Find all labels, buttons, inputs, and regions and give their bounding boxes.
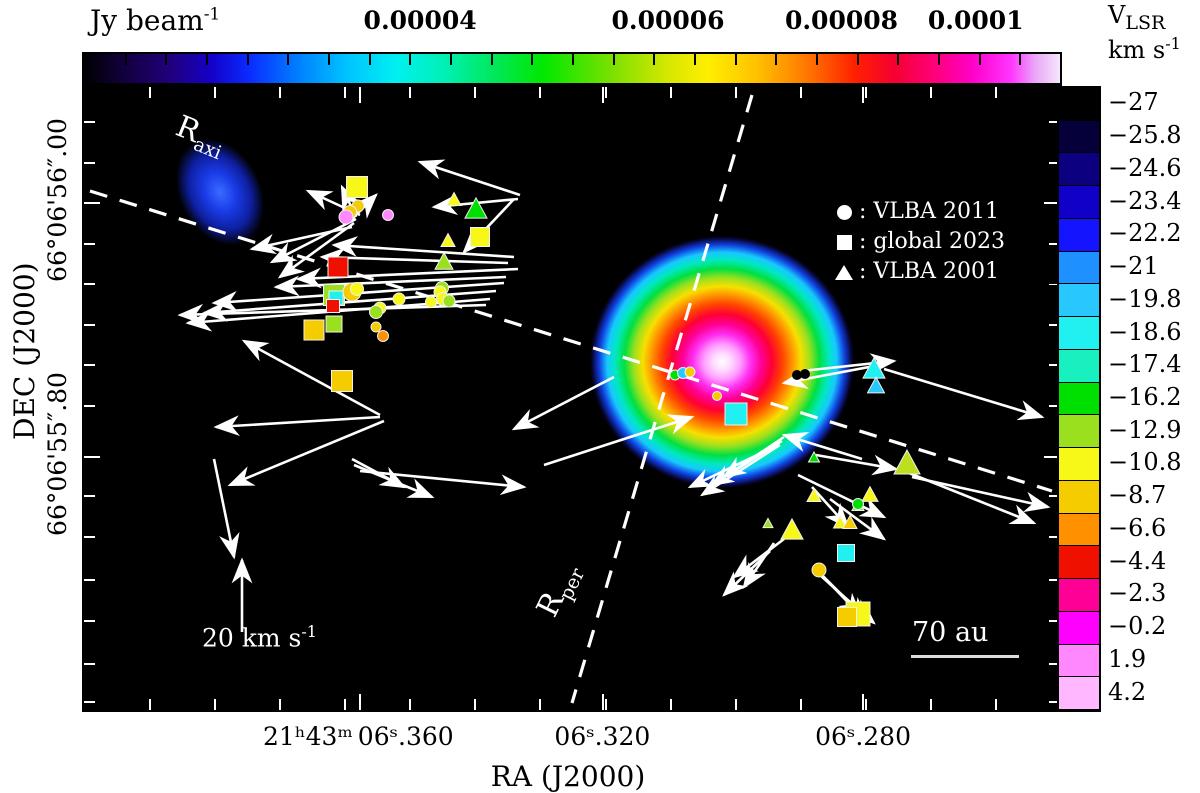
velocity-colorbar-title: VLSR km s-1 xyxy=(1108,2,1181,64)
axis-tick xyxy=(865,699,867,710)
axis-tick xyxy=(84,536,95,538)
maser-marker-vlba2001 xyxy=(763,518,773,527)
maser-marker-global2023 xyxy=(326,316,342,332)
axis-tick xyxy=(930,87,932,98)
legend-label: : VLBA 2001 xyxy=(859,257,999,287)
axis-tick xyxy=(800,87,802,98)
dec-tick-label: 66°06'55″.80 xyxy=(43,372,72,536)
axis-tick xyxy=(214,87,216,98)
axis-tick xyxy=(602,87,604,103)
legend-label: : VLBA 2011 xyxy=(859,197,999,227)
dec-tick-label: 66°06'56″.00 xyxy=(43,118,72,282)
velocity-color-cell xyxy=(1059,252,1099,285)
axis-tick xyxy=(149,699,151,710)
intensity-tick xyxy=(206,54,208,65)
velocity-color-cell xyxy=(1059,546,1099,579)
maser-marker-vlba2011 xyxy=(443,295,455,307)
velocity-tick-label: −27 xyxy=(1108,88,1159,116)
velocity-tick xyxy=(1046,348,1057,350)
velocity-tick-label: 4.2 xyxy=(1108,678,1146,706)
maser-marker-global2023 xyxy=(332,371,353,392)
velocity-tick-label: −19.8 xyxy=(1108,285,1182,313)
velocity-color-cell xyxy=(1059,153,1099,186)
intensity-tick xyxy=(735,54,737,65)
size-scale-label: 70 au xyxy=(912,617,988,648)
intensity-tick xyxy=(531,54,533,65)
axis-tick xyxy=(279,699,281,710)
velocity-tick xyxy=(1046,610,1057,612)
velocity-color-cell xyxy=(1059,219,1099,252)
continuum-emission xyxy=(141,104,854,488)
ra-tick-label: 21ʰ43ᵐ 06ˢ.360 xyxy=(263,722,454,751)
intensity-tick xyxy=(369,54,371,65)
intensity-tick xyxy=(653,54,655,65)
axis-tick xyxy=(84,324,95,326)
velocity-tick xyxy=(1046,479,1057,481)
velocity-tick-label: −21 xyxy=(1108,252,1159,280)
intensity-tick xyxy=(450,54,452,65)
intensity-tick xyxy=(1019,54,1021,65)
intensity-tick xyxy=(572,54,574,65)
maser-marker-vlba2011 xyxy=(339,210,353,224)
axis-tick xyxy=(670,699,672,710)
intensity-tick xyxy=(775,54,777,65)
maser-marker-vlba2011 xyxy=(685,367,695,377)
velocity-color-cell xyxy=(1059,448,1099,481)
axis-tick xyxy=(84,495,95,497)
size-scale-bar xyxy=(911,655,1019,658)
ra-tick-label: 06ˢ.280 xyxy=(815,722,911,751)
maser-marker-vlba2011 xyxy=(371,322,381,332)
intensity-tick xyxy=(938,54,940,65)
axis-tick xyxy=(84,243,95,245)
velocity-tick-label: −4.4 xyxy=(1108,547,1166,575)
velocity-color-cell xyxy=(1059,677,1099,710)
velocity-color-cell xyxy=(1059,317,1099,350)
square-icon xyxy=(831,235,857,250)
velocity-tick-label: −16.2 xyxy=(1108,383,1182,411)
axis-tick xyxy=(539,699,541,710)
intensity-tick xyxy=(979,54,981,65)
axis-tick xyxy=(800,699,802,710)
axis-tick xyxy=(84,162,95,164)
maser-marker-vlba2011 xyxy=(426,297,437,308)
intensity-tick-label: 0.00008 xyxy=(785,6,898,35)
maser-marker-vlba2011 xyxy=(393,293,405,305)
axis-tick xyxy=(605,699,607,710)
triangle-icon xyxy=(831,265,857,280)
axis-tick xyxy=(474,87,476,98)
x-axis-title: RA (J2000) xyxy=(491,760,646,793)
velocity-color-cell xyxy=(1059,284,1099,317)
axis-tick xyxy=(735,699,737,710)
velocity-tick-label: 1.9 xyxy=(1108,645,1146,673)
axis-tick xyxy=(359,87,361,103)
intensity-unit-label: Jy beam-1 xyxy=(90,4,220,37)
y-axis-title: DEC (J2000) xyxy=(8,262,41,440)
velocity-tick-label: −24.6 xyxy=(1108,154,1182,182)
velocity-color-cell xyxy=(1059,383,1099,416)
maser-marker-vlba2011 xyxy=(713,392,722,401)
velocity-tick-label: −8.7 xyxy=(1108,481,1166,509)
figure-root: Jy beam-1 0.000040.000060.000080.0001 xyxy=(0,0,1200,788)
axis-tick xyxy=(149,87,151,98)
axis-tick xyxy=(539,87,541,98)
axis-tick xyxy=(862,87,864,103)
velocity-color-cell xyxy=(1059,121,1099,154)
axis-tick xyxy=(344,699,346,710)
velocity-tick-label: −10.8 xyxy=(1108,448,1182,476)
maser-marker-vlba2001 xyxy=(447,193,461,206)
intensity-tick xyxy=(409,54,411,65)
velocity-color-cell xyxy=(1059,514,1099,547)
intensity-tick xyxy=(165,54,167,65)
legend-item-global2023: : global 2023 xyxy=(831,227,1005,257)
maser-marker-vlba2001 xyxy=(894,450,920,474)
axis-tick xyxy=(605,87,607,98)
velocity-color-cell xyxy=(1059,186,1099,219)
sky-map-panel[interactable]: Raxi Rper 20 km s-1 70 au : VLBA 2011 : … xyxy=(82,85,1062,712)
ra-tick-label: 06ˢ.320 xyxy=(554,722,650,751)
maser-marker-global2023 xyxy=(838,608,857,627)
axis-tick xyxy=(359,694,361,710)
axis-tick xyxy=(865,87,867,98)
maser-marker-vlba2011 xyxy=(378,331,389,342)
maser-marker-vlba2001 xyxy=(781,519,803,539)
velocity-tick xyxy=(1046,151,1057,153)
axis-tick xyxy=(995,87,997,98)
axis-tick xyxy=(84,121,95,123)
velocity-tick-label: −12.9 xyxy=(1108,416,1182,444)
intensity-tick xyxy=(897,54,899,65)
axis-tick xyxy=(84,579,95,581)
maser-marker-global2023 xyxy=(328,257,348,277)
intensity-tick xyxy=(613,54,615,65)
maser-marker-vlba2001 xyxy=(862,487,878,502)
intensity-tick xyxy=(857,54,859,65)
axis-tick xyxy=(279,87,281,98)
velocity-tick xyxy=(1046,282,1057,284)
maser-marker-global2023 xyxy=(347,177,368,198)
axis-tick xyxy=(84,202,100,204)
maser-marker-vlba2001 xyxy=(441,234,455,247)
velocity-scale-label: 20 km s-1 xyxy=(202,622,317,652)
axis-tick xyxy=(409,87,411,98)
intensity-tick xyxy=(125,54,127,65)
intensity-colorbar xyxy=(82,52,1062,85)
axis-tick xyxy=(214,699,216,710)
intensity-tick xyxy=(694,54,696,65)
velocity-colorbar[interactable] xyxy=(1057,86,1101,712)
legend-label: : global 2023 xyxy=(859,227,1005,257)
intensity-tick xyxy=(328,54,330,65)
axis-tick xyxy=(602,694,604,710)
axis-tick xyxy=(862,694,864,710)
legend-item-vlba2001: : VLBA 2001 xyxy=(831,257,1005,287)
axis-tick xyxy=(474,699,476,710)
velocity-tick-label: −0.2 xyxy=(1108,612,1166,640)
velocity-tick-label: −25.8 xyxy=(1108,121,1182,149)
velocity-tick xyxy=(1046,413,1057,415)
intensity-tick xyxy=(287,54,289,65)
velocity-tick xyxy=(1046,544,1057,546)
maser-marker-global2023 xyxy=(471,228,490,247)
maser-marker-global2023 xyxy=(304,320,324,340)
maser-marker-global2023 xyxy=(725,403,747,425)
intensity-tick xyxy=(247,54,249,65)
velocity-color-cell xyxy=(1059,350,1099,383)
maser-marker-vlba2011 xyxy=(800,369,810,379)
velocity-tick xyxy=(1046,217,1057,219)
axis-tick xyxy=(84,701,95,703)
maser-marker-vlba2011 xyxy=(351,283,364,296)
axis-tick xyxy=(84,620,95,622)
velocity-color-cell xyxy=(1059,645,1099,678)
velocity-color-cell xyxy=(1059,88,1099,121)
velocity-color-cell xyxy=(1059,415,1099,448)
axis-tick xyxy=(735,87,737,98)
velocity-tick xyxy=(1046,675,1057,677)
velocity-color-cell xyxy=(1059,481,1099,514)
velocity-tick-label: −6.6 xyxy=(1108,514,1166,542)
velocity-tick-label: −2.3 xyxy=(1108,579,1166,607)
axis-tick xyxy=(995,699,997,710)
axis-tick xyxy=(84,663,95,665)
intensity-tick xyxy=(491,54,493,65)
maser-marker-vlba2001 xyxy=(465,198,487,218)
maser-marker-vlba2001 xyxy=(868,377,885,393)
maser-marker-vlba2011 xyxy=(370,306,383,319)
maser-marker-vlba2011 xyxy=(853,499,864,510)
intensity-tick-label: 0.00004 xyxy=(364,6,477,35)
circle-icon xyxy=(831,205,857,220)
velocity-tick-label: −23.4 xyxy=(1108,187,1182,215)
axis-tick xyxy=(344,87,346,98)
legend-item-vlba2011: : VLBA 2011 xyxy=(831,197,1005,227)
axis-tick xyxy=(409,699,411,710)
intensity-tick xyxy=(816,54,818,65)
axis-tick xyxy=(84,405,95,407)
maser-marker-vlba2011 xyxy=(812,563,826,577)
legend: : VLBA 2011 : global 2023 : VLBA 2001 xyxy=(831,197,1005,287)
intensity-tick-label: 0.00006 xyxy=(611,6,724,35)
axis-tick xyxy=(930,699,932,710)
velocity-color-cell xyxy=(1059,579,1099,612)
axis-tick xyxy=(84,364,95,366)
maser-marker-global2023 xyxy=(327,300,340,313)
intensity-tick-label: 0.0001 xyxy=(928,6,1024,35)
velocity-tick-label: −22.2 xyxy=(1108,219,1182,247)
velocity-tick-label: −17.4 xyxy=(1108,350,1182,378)
axis-tick xyxy=(84,456,100,458)
velocity-tick-label: −18.6 xyxy=(1108,318,1182,346)
maser-marker-global2023 xyxy=(838,545,855,562)
velocity-color-cell xyxy=(1059,612,1099,645)
axis-tick xyxy=(670,87,672,98)
maser-marker-vlba2011 xyxy=(383,210,394,221)
axis-tick xyxy=(84,283,95,285)
